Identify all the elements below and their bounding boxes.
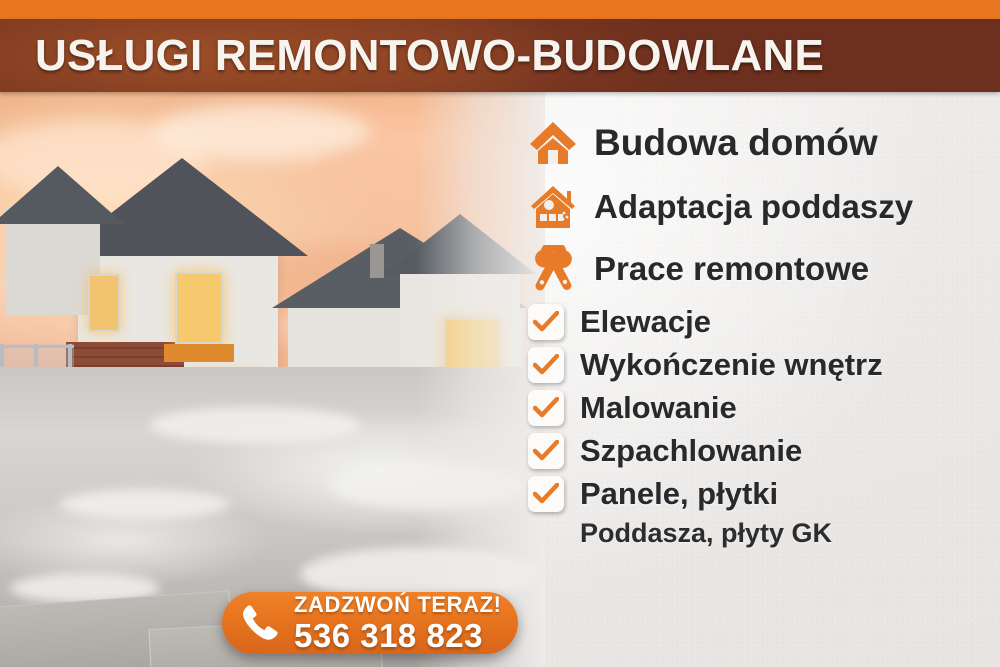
- crossed-wrenches-icon: [528, 244, 578, 294]
- checkbox-checked-icon[interactable]: [528, 347, 564, 383]
- service-sub-label: Poddasza, płyty GK: [580, 519, 998, 549]
- services-list: Budowa domów Adaptacja poddaszy: [528, 118, 998, 549]
- balcony: [164, 344, 234, 362]
- call-now-button[interactable]: ZADZWOŃ TERAZ! 536 318 823: [222, 592, 518, 654]
- phone-handset-icon: [238, 601, 282, 645]
- service-label: Malowanie: [580, 392, 737, 425]
- chimney: [370, 244, 384, 278]
- service-item-budowa-domow[interactable]: Budowa domów: [528, 118, 998, 168]
- service-item-prace-remontowe[interactable]: Prace remontowe: [528, 244, 998, 294]
- checkbox-checked-icon[interactable]: [528, 476, 564, 512]
- photo-fade-overlay: [415, 92, 545, 667]
- service-label: Elewacje: [580, 306, 711, 339]
- service-item-panele-plytki[interactable]: Panele, płytki: [528, 476, 998, 512]
- service-label: Wykończenie wnętrz: [580, 349, 883, 382]
- checkbox-checked-icon[interactable]: [528, 304, 564, 340]
- left-roof: [0, 166, 124, 224]
- service-item-szpachlowanie[interactable]: Szpachlowanie: [528, 433, 998, 469]
- service-item-elewacje[interactable]: Elewacje: [528, 304, 998, 340]
- service-label: Szpachlowanie: [580, 435, 802, 468]
- service-label: Panele, płytki: [580, 478, 778, 511]
- call-now-label: ZADZWOŃ TERAZ!: [294, 594, 502, 616]
- service-label: Adaptacja poddaszy: [594, 190, 913, 225]
- window: [175, 272, 223, 344]
- service-item-malowanie[interactable]: Malowanie: [528, 390, 998, 426]
- service-label: Budowa domów: [594, 124, 878, 163]
- checkbox-checked-icon[interactable]: [528, 390, 564, 426]
- advertisement-poster: USŁUGI REMONTOWO-BUDOWLANE Budowa domów: [0, 0, 1000, 667]
- service-item-adaptacja-poddaszy[interactable]: Adaptacja poddaszy: [528, 182, 998, 232]
- top-orange-strip: [0, 0, 1000, 19]
- window: [88, 274, 120, 332]
- page-title: USŁUGI REMONTOWO-BUDOWLANE: [35, 31, 824, 81]
- phone-number: 536 318 823: [294, 619, 502, 652]
- service-item-wykonczenie-wnetrz[interactable]: Wykończenie wnętrz: [528, 347, 998, 383]
- house-icon: [528, 118, 578, 168]
- service-label: Prace remontowe: [594, 252, 869, 287]
- construction-photo: [0, 92, 545, 667]
- attic-house-icon: [528, 182, 578, 232]
- checkbox-checked-icon[interactable]: [528, 433, 564, 469]
- title-banner: USŁUGI REMONTOWO-BUDOWLANE: [0, 19, 1000, 92]
